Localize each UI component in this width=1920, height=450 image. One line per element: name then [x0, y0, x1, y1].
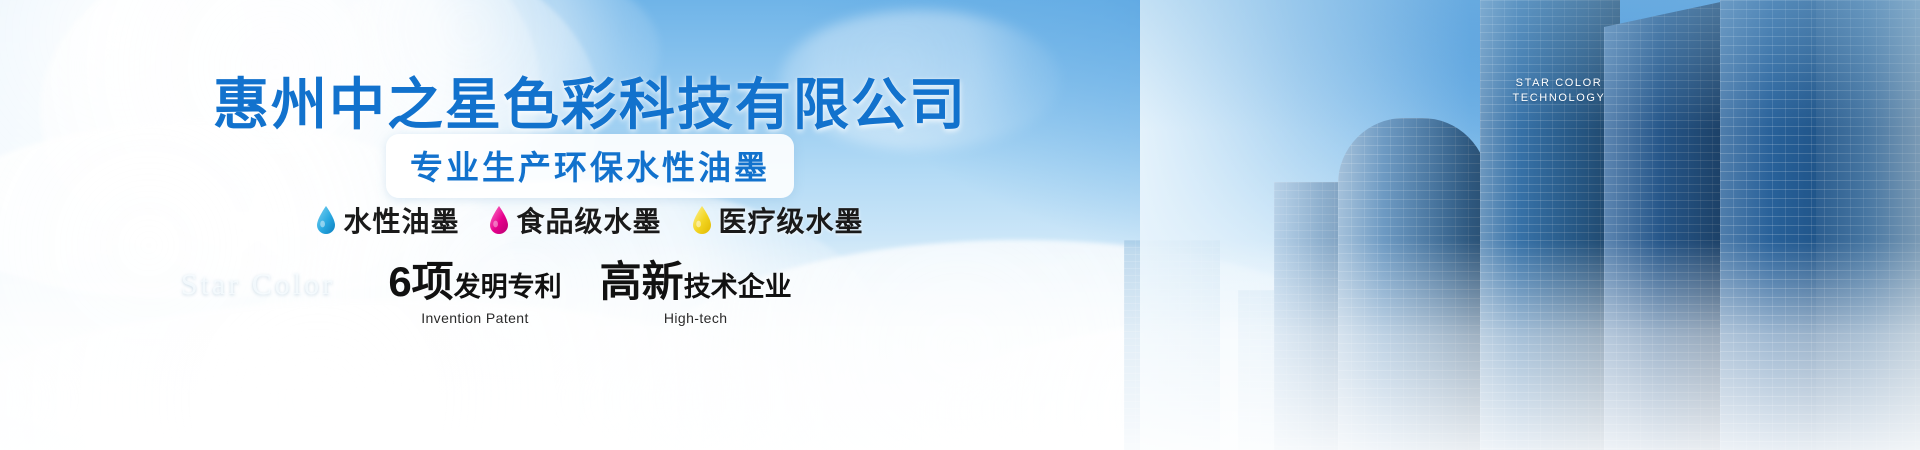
feature-item: 水性油墨	[316, 200, 459, 240]
feature-label: 食品级水墨	[516, 200, 661, 240]
badge-chinese-text: 高新技术企业	[600, 262, 792, 307]
badge-highlight: 6项	[388, 258, 453, 305]
badge-english-text: Invention Patent	[388, 310, 561, 326]
water-drop-icon	[692, 206, 712, 234]
tower-brand-line-2: TECHNOLOGY	[1494, 91, 1624, 106]
product-feature-list: 水性油墨 食品级水墨	[0, 200, 1180, 240]
credential-badge: 高新技术企业 High-tech	[600, 262, 792, 326]
feature-item: 食品级水墨	[489, 200, 661, 240]
company-title: 惠州中之星色彩科技有限公司	[0, 60, 1180, 141]
subtitle-pill: 专业生产环保水性油墨	[386, 134, 794, 198]
badge-subtext: 发明专利	[454, 272, 562, 302]
subtitle-row: 专业生产环保水性油墨	[0, 134, 1180, 198]
feature-label: 医疗级水墨	[719, 200, 864, 240]
badge-chinese-text: 6项发明专利	[388, 262, 561, 307]
banner-content: 惠州中之星色彩科技有限公司 专业生产环保水性油墨 水性油墨	[0, 0, 1180, 450]
badge-highlight: 高新	[600, 258, 684, 305]
water-drop-icon	[489, 206, 509, 234]
feature-item: 医疗级水墨	[692, 200, 864, 240]
badge-subtext: 技术企业	[684, 272, 792, 302]
tower-brand-mark: STAR COLOR TECHNOLOGY	[1494, 76, 1624, 106]
badge-english-text: High-tech	[600, 310, 792, 326]
company-hero-banner: STAR COLOR TECHNOLOGY ★ Star Color 惠州中之星…	[0, 0, 1920, 450]
credential-badge: 6项发明专利 Invention Patent	[388, 262, 561, 326]
water-drop-icon	[316, 206, 336, 234]
skyline-top-fade	[1140, 0, 1920, 130]
credential-badge-list: 6项发明专利 Invention Patent 高新技术企业 High-tech	[0, 262, 1180, 326]
feature-label: 水性油墨	[343, 200, 459, 240]
tower-brand-line-1: STAR COLOR	[1494, 76, 1624, 91]
